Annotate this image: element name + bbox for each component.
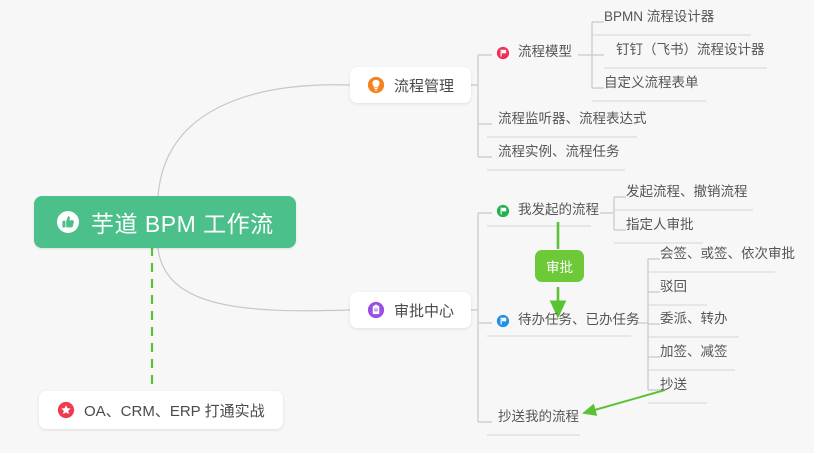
node-label-process-listener-expression: 流程监听器、流程表达式 [498,111,647,127]
node-label-start-cancel-process: 发起流程、撤销流程 [626,184,748,200]
branch-label-approval-center: 审批中心 [394,300,454,321]
node-process-instance-task[interactable]: 流程实例、流程任务 [492,142,626,164]
wire-root-to-approval-center [158,248,350,311]
node-label-cc: 抄送 [660,377,687,393]
node-label-my-initiated-process: 我发起的流程 [518,202,599,218]
mindmap-canvas: 芋道 BPM 工作流 流程管理 流程模型 BPMN 流程设计器 钉钉（飞书）流程 [0,0,814,453]
flag-icon [496,314,510,328]
branch-node-process-management[interactable]: 流程管理 [350,67,471,103]
node-label-add-remove-sign: 加签、减签 [660,344,728,360]
badge-approval-label: 审批 [546,256,573,276]
note-label-integration: OA、CRM、ERP 打通实战 [84,400,265,421]
node-custom-process-form[interactable]: 自定义流程表单 [598,73,705,95]
node-bpmn-designer[interactable]: BPMN 流程设计器 [598,7,720,29]
node-designated-approver[interactable]: 指定人审批 [620,215,700,237]
node-process-listener-expression[interactable]: 流程监听器、流程表达式 [492,109,653,131]
root-node[interactable]: 芋道 BPM 工作流 [34,196,296,248]
node-label-bpmn-designer: BPMN 流程设计器 [604,9,714,25]
node-label-process-model: 流程模型 [518,44,572,60]
note-node-integration[interactable]: OA、CRM、ERP 打通实战 [39,391,283,429]
branch-label-process-management: 流程管理 [394,75,454,96]
node-add-remove-sign[interactable]: 加签、减签 [654,342,734,364]
node-label-cc-to-me-process: 抄送我的流程 [498,409,579,425]
cc-link-arrow [584,390,665,413]
node-label-reject: 驳回 [660,279,687,295]
node-delegate-transfer[interactable]: 委派、转办 [654,309,734,331]
node-process-model[interactable]: 流程模型 [490,40,578,64]
node-todo-done-tasks[interactable]: 待办任务、已办任务 [490,308,646,332]
badge-approval[interactable]: 审批 [535,250,584,282]
node-my-initiated-process[interactable]: 我发起的流程 [490,198,605,222]
node-cc[interactable]: 抄送 [654,375,693,397]
node-countersign-orsign-sequential[interactable]: 会签、或签、依次审批 [654,244,801,266]
node-label-todo-done-tasks: 待办任务、已办任务 [518,312,640,328]
node-start-cancel-process[interactable]: 发起流程、撤销流程 [620,182,754,204]
flag-icon [496,204,510,218]
branch-node-approval-center[interactable]: 审批中心 [350,292,471,328]
wire-root-to-process-management [158,85,350,196]
node-label-dingtalk-feishu-designer: 钉钉（飞书）流程设计器 [616,42,765,58]
node-label-custom-process-form: 自定义流程表单 [604,75,699,91]
thumbs-up-icon [56,210,80,234]
lightbulb-icon [367,76,385,94]
root-node-label: 芋道 BPM 工作流 [91,205,274,239]
node-label-process-instance-task: 流程实例、流程任务 [498,144,620,160]
node-cc-to-me-process[interactable]: 抄送我的流程 [492,407,585,429]
node-label-designated-approver: 指定人审批 [626,217,694,233]
star-icon [57,401,75,419]
node-reject[interactable]: 驳回 [654,277,693,299]
node-dingtalk-feishu-designer[interactable]: 钉钉（飞书）流程设计器 [610,40,771,62]
flag-icon [496,46,510,60]
clipboard-icon [367,301,385,319]
node-label-delegate-transfer: 委派、转办 [660,311,728,327]
node-label-countersign-orsign-sequential: 会签、或签、依次审批 [660,246,795,262]
